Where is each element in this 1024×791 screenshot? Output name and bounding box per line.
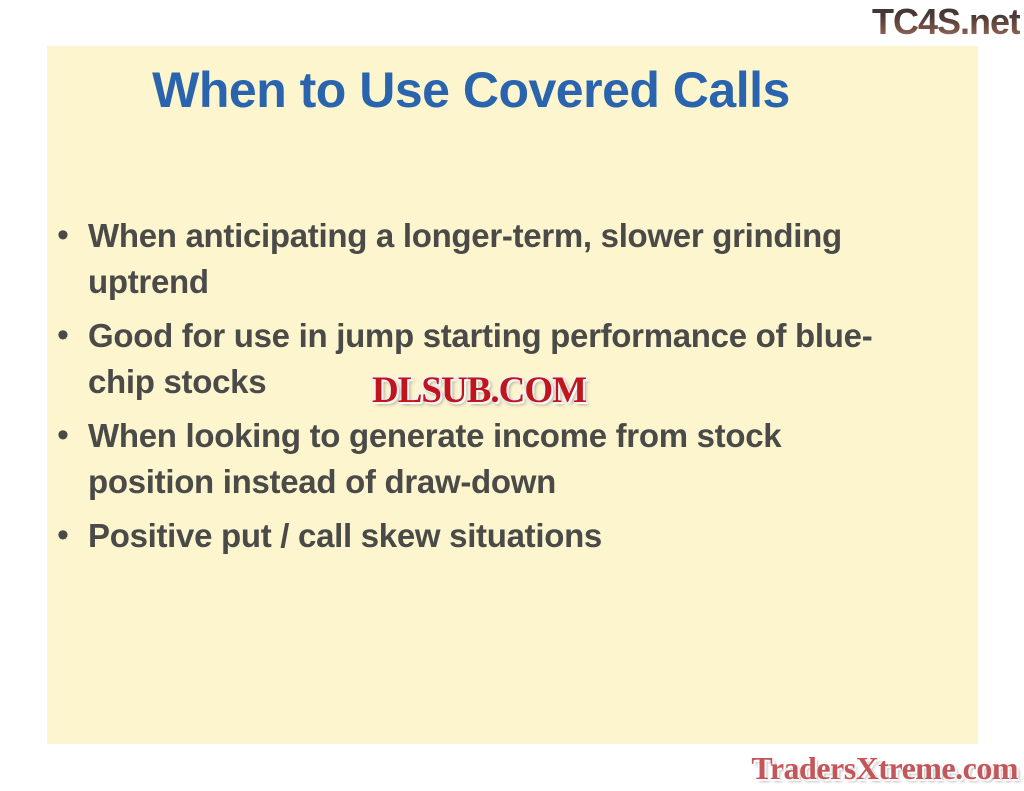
dlsub-watermark: DLSUB.COM	[372, 371, 586, 411]
list-item: • When looking to generate income from s…	[50, 413, 910, 505]
bullet-point-icon: •	[50, 313, 88, 357]
tc4s-logo: TC4S.net	[872, 2, 1020, 42]
bullet-text: When looking to generate income from sto…	[88, 413, 910, 505]
bullet-point-icon: •	[50, 213, 88, 257]
tradersxtreme-watermark: TradersXtreme.com	[751, 750, 1018, 786]
bullet-point-icon: •	[50, 413, 88, 457]
bullet-point-icon: •	[50, 513, 88, 557]
bullet-text: When anticipating a longer-term, slower …	[88, 213, 848, 305]
page-title: When to Use Covered Calls	[91, 64, 851, 117]
bullet-text: Positive put / call skew situations	[88, 513, 910, 559]
list-item: • Positive put / call skew situations	[50, 513, 910, 559]
list-item: • When anticipating a longer-term, slowe…	[50, 213, 910, 305]
